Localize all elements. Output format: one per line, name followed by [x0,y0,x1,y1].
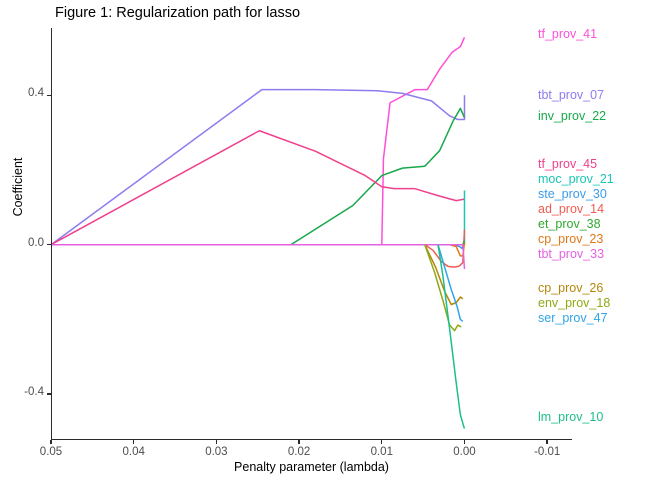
y-tick-label: 0.4 [0,87,44,99]
x-tick-mark [546,440,547,444]
series-line [51,37,464,244]
x-tick-label: 0.05 [40,446,62,458]
x-tick-label: 0.00 [453,446,475,458]
x-tick-mark [50,440,51,444]
series-label-moc_prov_21: moc_prov_21 [538,172,614,186]
y-tick-mark [47,244,51,245]
x-tick-mark [464,440,465,444]
y-axis-line [51,28,52,440]
x-tick-mark [216,440,217,444]
series-label-tf_prov_41: tf_prov_41 [538,27,597,41]
x-tick-label: 0.04 [122,446,144,458]
series-line [51,108,464,244]
series-label-tbt_prov_07: tbt_prov_07 [538,88,604,102]
series-label-ste_prov_30: ste_prov_30 [538,187,607,201]
y-tick-label: -0.4 [0,386,44,398]
x-tick-label: 0.03 [205,446,227,458]
series-label-et_prov_38: et_prov_38 [538,217,601,231]
y-tick-mark [47,393,51,394]
series-label-ser_prov_47: ser_prov_47 [538,311,608,325]
series-line [51,245,464,269]
y-tick-mark [47,95,51,96]
series-label-inv_prov_22: inv_prov_22 [538,109,606,123]
x-tick-label: 0.02 [288,446,310,458]
x-tick-mark [133,440,134,444]
y-axis-title: Coefficient [11,117,25,257]
series-line [51,131,464,245]
x-tick-mark [298,440,299,444]
regularization-path-chart: Figure 1: Regularization path for lasso … [0,0,672,480]
x-tick-mark [381,440,382,444]
series-label-env_prov_18: env_prov_18 [538,296,610,310]
series-label-tf_prov_45: tf_prov_45 [538,157,597,171]
series-line [438,245,464,429]
x-axis-line [51,439,572,440]
series-line [425,245,463,305]
x-tick-label: 0.01 [371,446,393,458]
series-label-tbt_prov_33: tbt_prov_33 [538,247,604,261]
series-line [51,90,464,245]
series-label-cp_prov_26: cp_prov_26 [538,281,603,295]
x-tick-label: -0.01 [534,446,560,458]
series-label-ad_prov_14: ad_prov_14 [538,202,604,216]
x-axis-title: Penalty parameter (lambda) [51,460,572,474]
series-label-lm_prov_10: lm_prov_10 [538,410,603,424]
series-label-cp_prov_23: cp_prov_23 [538,232,603,246]
